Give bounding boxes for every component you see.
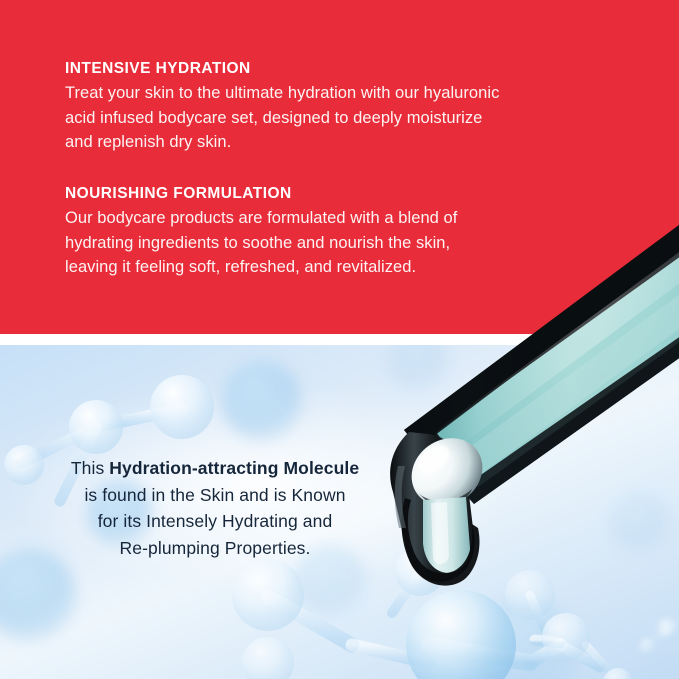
body-line: Treat your skin to the ultimate hydratio… [65,81,499,106]
body-line: hydrating ingredients to soothe and nour… [65,231,457,256]
molecule-chain-far-right [639,618,679,656]
molecule-callout-text: This Hydration-attracting Molecule is fo… [35,455,395,561]
callout-line-3: for its Intensely Hydrating and [35,508,395,535]
molecule-cluster-right [406,531,633,679]
red-info-panel: INTENSIVE HYDRATION Treat your skin to t… [0,0,679,334]
callout-line-1-bold: Hydration-attracting Molecule [109,458,359,478]
callout-line-2: is found in the Skin and is Known [35,482,395,509]
callout-line-4: Re-plumping Properties. [35,535,395,562]
blue-molecule-panel: This Hydration-attracting Molecule is fo… [0,345,679,679]
body-line: and replenish dry skin. [65,130,499,155]
callout-line-1: This Hydration-attracting Molecule [35,455,395,482]
heading-nourishing-formulation: NOURISHING FORMULATION [65,183,457,204]
body-line: acid infused bodycare set, designed to d… [65,106,499,131]
body-line: Our bodycare products are formulated wit… [65,206,457,231]
product-banner: INTENSIVE HYDRATION Treat your skin to t… [0,0,679,679]
body-line: leaving it feeling soft, refreshed, and … [65,255,457,280]
copy-block-nourishing-formulation: NOURISHING FORMULATION Our bodycare prod… [65,183,457,280]
body-nourishing-formulation: Our bodycare products are formulated wit… [65,206,457,280]
body-intensive-hydration: Treat your skin to the ultimate hydratio… [65,81,499,155]
section-divider [0,334,679,345]
callout-line-1-prefix: This [71,458,109,478]
heading-intensive-hydration: INTENSIVE HYDRATION [65,58,499,79]
copy-block-intensive-hydration: INTENSIVE HYDRATION Treat your skin to t… [65,58,499,155]
